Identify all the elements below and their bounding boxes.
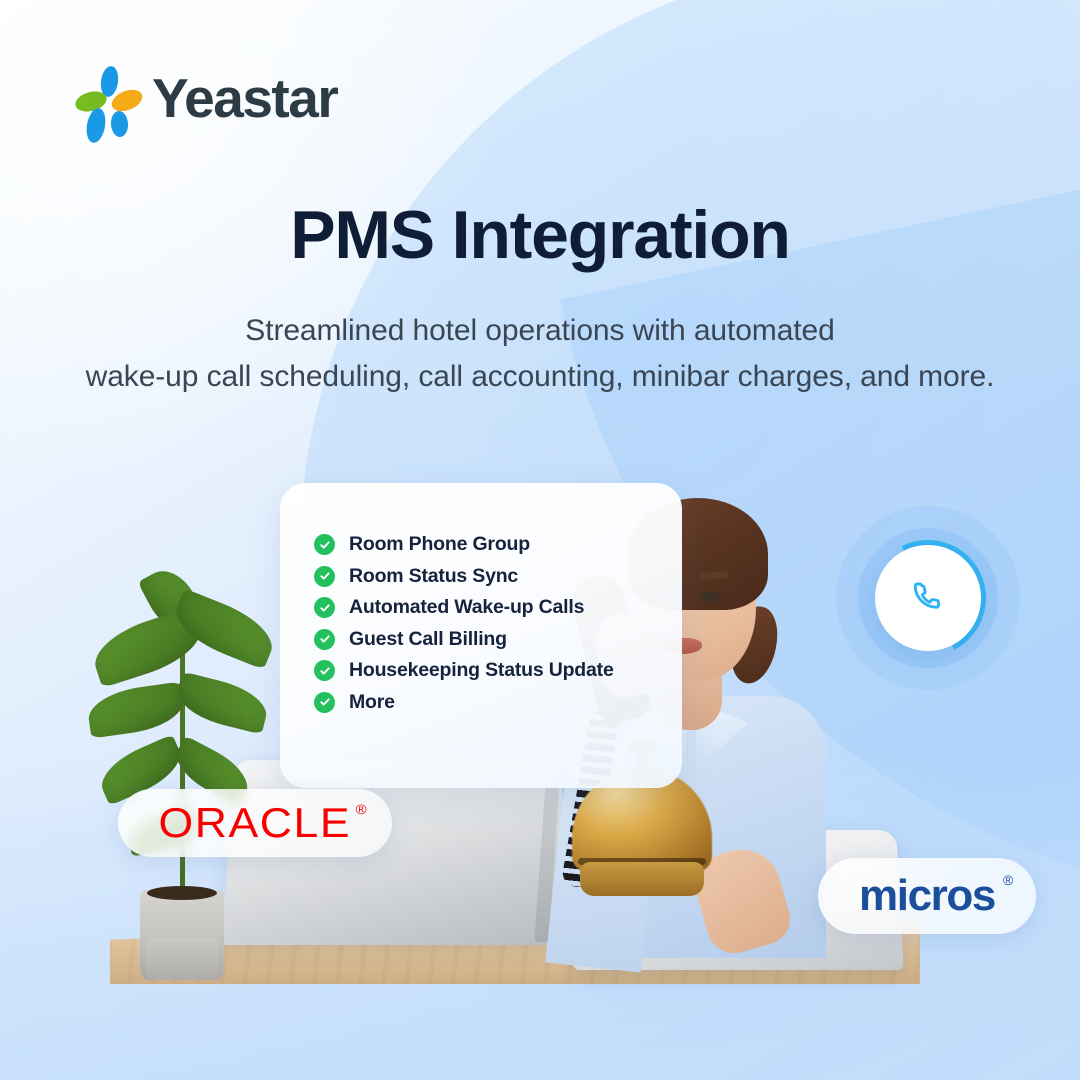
list-item: More: [314, 687, 682, 719]
feature-list: Room Phone Group Room Status Sync Automa…: [314, 529, 682, 718]
feature-label: Automated Wake-up Calls: [349, 596, 584, 619]
phone-handset-icon: [911, 579, 945, 618]
eye-right: [700, 592, 720, 602]
feature-label: More: [349, 691, 395, 714]
plant-pot: [140, 890, 224, 980]
check-circle-icon: [314, 597, 335, 618]
check-circle-icon: [314, 660, 335, 681]
feature-card: Room Phone Group Room Status Sync Automa…: [280, 483, 682, 788]
call-badge: [828, 498, 1028, 698]
subtitle-line-2: wake-up call scheduling, call accounting…: [0, 354, 1080, 400]
list-item: Room Status Sync: [314, 561, 682, 593]
list-item: Room Phone Group: [314, 529, 682, 561]
page-title: PMS Integration: [0, 196, 1080, 274]
list-item: Housekeeping Status Update: [314, 655, 682, 687]
bell-base: [580, 862, 704, 896]
feature-label: Guest Call Billing: [349, 628, 507, 651]
partner-badge-micros: micros ®: [818, 858, 1036, 934]
feature-label: Housekeeping Status Update: [349, 659, 614, 682]
plant-leaf: [172, 671, 271, 734]
brand-logo: Yeastar: [78, 66, 337, 130]
oracle-wordmark: ORACLE: [159, 799, 352, 846]
brand-wordmark: Yeastar: [152, 71, 337, 126]
yeastar-pinwheel-icon: [78, 66, 138, 130]
check-circle-icon: [314, 566, 335, 587]
feature-label: Room Phone Group: [349, 533, 530, 556]
subtitle-line-1: Streamlined hotel operations with automa…: [0, 308, 1080, 354]
micros-wordmark: micros: [859, 871, 995, 920]
list-item: Guest Call Billing: [314, 624, 682, 656]
partner-badge-oracle: ORACLE ®: [118, 789, 392, 857]
registered-mark: ®: [356, 801, 369, 817]
phone-icon-circle: [875, 545, 981, 651]
list-item: Automated Wake-up Calls: [314, 592, 682, 624]
feature-label: Room Status Sync: [349, 565, 518, 588]
check-circle-icon: [314, 534, 335, 555]
page-subtitle: Streamlined hotel operations with automa…: [0, 308, 1080, 399]
check-circle-icon: [314, 692, 335, 713]
check-circle-icon: [314, 629, 335, 650]
registered-mark: ®: [1003, 872, 1012, 888]
plant-leaf: [85, 682, 186, 739]
poster-canvas: Yeastar PMS Integration Streamlined hote…: [0, 0, 1080, 1080]
